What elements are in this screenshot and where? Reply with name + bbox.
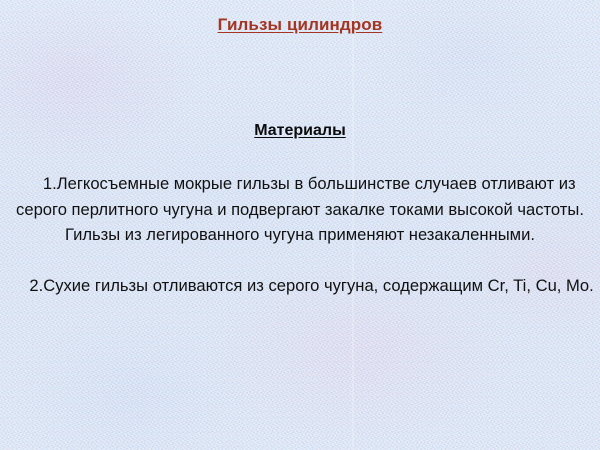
body-paragraph-1: 1.Легкосъемные мокрые гильзы в большинст… — [0, 171, 600, 248]
section-heading-materials: Материалы — [0, 122, 600, 140]
paragraph-spacer — [0, 248, 600, 273]
slide-title: Гильзы цилиндров — [0, 15, 600, 35]
presentation-slide: Гильзы цилиндров Материалы 1.Легкосъемны… — [0, 0, 600, 450]
slide-content: Гильзы цилиндров Материалы 1.Легкосъемны… — [0, 0, 600, 450]
body-paragraph-2: 2.Сухие гильзы отливаются из серого чугу… — [0, 273, 600, 299]
slide-body-text: 1.Легкосъемные мокрые гильзы в большинст… — [0, 171, 600, 298]
